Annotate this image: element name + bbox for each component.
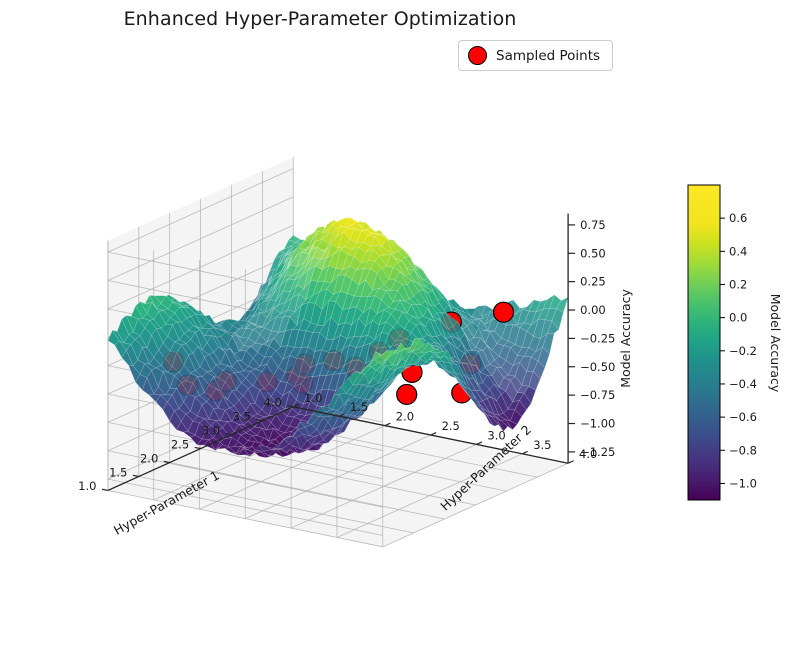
x-tick-label: 2.5 — [171, 437, 189, 451]
scatter-point[interactable] — [397, 384, 417, 404]
x-tick-label: 1.5 — [109, 465, 127, 479]
x-tick-label: 3.0 — [202, 423, 220, 437]
scatter-point[interactable] — [494, 302, 514, 322]
colorbar-tick-label: −0.4 — [729, 377, 757, 391]
z-tick-label: 0.00 — [580, 303, 606, 317]
y-tick-label: 2.5 — [442, 419, 460, 433]
figure-canvas: Enhanced Hyper-Parameter Optimization Sa… — [0, 0, 793, 662]
x-tick-label: 3.5 — [233, 410, 251, 424]
colorbar-tick-label: −0.8 — [729, 443, 757, 457]
x-tick-label: 4.0 — [264, 396, 282, 410]
surface-plot-3d: 1.01.52.02.53.03.54.01.01.52.02.53.03.54… — [0, 0, 793, 662]
x-tick-label: 1.0 — [78, 479, 96, 493]
z-tick-label: 0.50 — [580, 246, 606, 260]
y-tick-label: 2.0 — [396, 410, 414, 424]
colorbar-tick-label: −1.0 — [729, 476, 757, 490]
x-tick-label: 2.0 — [140, 451, 158, 465]
colorbar-tick-label: 0.6 — [729, 211, 747, 225]
z-tick-label: 0.75 — [580, 218, 606, 232]
z-tick-label: −1.25 — [580, 445, 615, 459]
z-tick-label: −0.25 — [580, 331, 615, 345]
colorbar-tick-label: −0.6 — [729, 410, 757, 424]
z-tick-label: −0.50 — [580, 360, 615, 374]
z-tick-label: −1.00 — [580, 417, 615, 431]
y-tick-label: 3.5 — [533, 438, 551, 452]
y-tick-label: 1.0 — [304, 391, 322, 405]
z-tick-label: 0.25 — [580, 275, 606, 289]
colorbar-tick-label: −0.2 — [729, 344, 757, 358]
z-axis-title: Model Accuracy — [618, 289, 633, 388]
y-tick-label: 1.5 — [350, 400, 368, 414]
colorbar-tick-label: 0.0 — [729, 311, 747, 325]
colorbar-gradient — [688, 185, 720, 500]
colorbar-label: Model Accuracy — [768, 294, 783, 393]
z-tick-label: −0.75 — [580, 388, 615, 402]
colorbar-tick-label: 0.2 — [729, 277, 747, 291]
colorbar-tick-label: 0.4 — [729, 244, 747, 258]
colorbar-ticks: 0.60.40.20.0−0.2−0.4−0.6−0.8−1.0 — [720, 211, 757, 490]
